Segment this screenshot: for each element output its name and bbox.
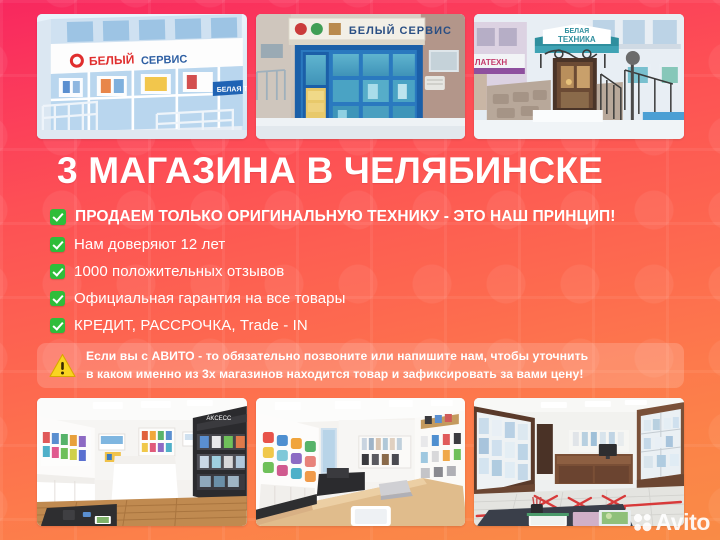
svg-text:AKCECC: AKCECC bbox=[206, 416, 232, 422]
interior-photo-row: AKCECC bbox=[37, 398, 684, 526]
list-item: 1000 положительных отзывов bbox=[50, 259, 690, 284]
check-icon bbox=[50, 237, 65, 252]
avito-watermark: Avito bbox=[633, 511, 710, 534]
avito-logo-icon bbox=[633, 513, 652, 532]
svg-text:ТЕХНИКА: ТЕХНИКА bbox=[558, 35, 596, 44]
avito-wordmark: Avito bbox=[655, 511, 710, 534]
svg-text:ЛАТЕХН: ЛАТЕХН bbox=[475, 58, 508, 67]
storefront-photo-3[interactable]: ЛАТЕХН БЕЛАЯ ТЕХНИКА bbox=[474, 14, 684, 139]
check-icon bbox=[50, 264, 65, 279]
advertisement-banner: БЕЛЫЙ СЕРВИС bbox=[0, 0, 720, 540]
list-item-label: Официальная гарантия на все товары bbox=[74, 290, 346, 307]
list-item: ПРОДАЕМ ТОЛЬКО ОРИГИНАЛЬНУЮ ТЕХНИКУ - ЭТ… bbox=[50, 203, 690, 230]
warning-notice-line-2: в каком именно из 3х магазинов находится… bbox=[86, 366, 588, 383]
svg-text:БЕЛЫЙ СЕРВИС: БЕЛЫЙ СЕРВИС bbox=[349, 24, 452, 37]
list-item-label: 1000 положительных отзывов bbox=[74, 263, 284, 280]
check-icon bbox=[50, 318, 65, 333]
warning-notice: Если вы с АВИТО - то обязательно позвони… bbox=[37, 343, 684, 388]
list-item-label: ПРОДАЕМ ТОЛЬКО ОРИГИНАЛЬНУЮ ТЕХНИКУ - ЭТ… bbox=[75, 208, 615, 226]
list-item: Нам доверяют 12 лет bbox=[50, 232, 690, 257]
warning-notice-line-1: Если вы с АВИТО - то обязательно позвони… bbox=[86, 348, 588, 365]
interior-photo-3[interactable] bbox=[474, 398, 684, 526]
check-icon bbox=[50, 291, 65, 306]
storefront-photo-row: БЕЛЫЙ СЕРВИС bbox=[37, 14, 684, 139]
interior-photo-1[interactable]: AKCECC bbox=[37, 398, 247, 526]
storefront-photo-1[interactable]: БЕЛЫЙ СЕРВИС bbox=[37, 14, 247, 139]
svg-text:БЕЛАЯ: БЕЛАЯ bbox=[565, 28, 590, 35]
warning-triangle-icon bbox=[49, 353, 76, 378]
feature-list: ПРОДАЕМ ТОЛЬКО ОРИГИНАЛЬНУЮ ТЕХНИКУ - ЭТ… bbox=[50, 203, 690, 340]
list-item: КРЕДИТ, РАССРОЧКА, Trade - IN bbox=[50, 313, 690, 338]
list-item: Официальная гарантия на все товары bbox=[50, 286, 690, 311]
page-title: 3 МАГАЗИНА В ЧЕЛЯБИНСКЕ bbox=[57, 152, 677, 191]
interior-photo-2[interactable] bbox=[256, 398, 466, 526]
list-item-label: КРЕДИТ, РАССРОЧКА, Trade - IN bbox=[74, 317, 308, 334]
check-icon bbox=[50, 209, 66, 225]
warning-notice-text: Если вы с АВИТО - то обязательно позвони… bbox=[86, 348, 588, 383]
storefront-photo-2[interactable]: БЕЛЫЙ СЕРВИС bbox=[256, 14, 466, 139]
svg-text:БЕЛЫЙ: БЕЛЫЙ bbox=[89, 51, 135, 68]
list-item-label: Нам доверяют 12 лет bbox=[74, 236, 225, 253]
svg-text:СЕРВИС: СЕРВИС bbox=[141, 53, 188, 67]
svg-text:БЕЛАЯ ТЕХ: БЕЛАЯ ТЕХ bbox=[217, 85, 247, 94]
